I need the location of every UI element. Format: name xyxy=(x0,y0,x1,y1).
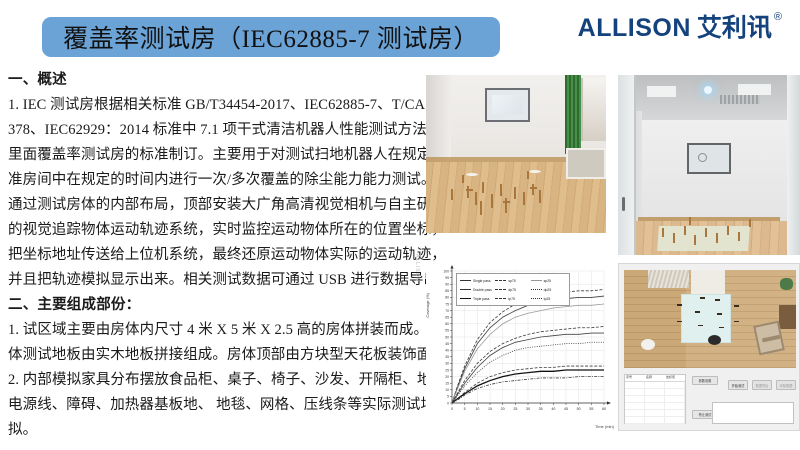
section-2-line: 体测试地板由实木地板拼接组成。房体顶部由方块型天花板装饰面成。 xyxy=(8,343,420,368)
chart-canvas: Coverage (%) Time (min) 0510152025303540… xyxy=(426,263,616,431)
software-log-area[interactable] xyxy=(712,402,794,424)
camera-marker xyxy=(734,305,739,307)
photo-peg xyxy=(532,184,534,195)
legend-row: Double pass dp75 dp25 xyxy=(460,285,566,294)
svg-text:45: 45 xyxy=(564,407,568,411)
registered-trademark-icon: ® xyxy=(774,11,782,23)
section-2-line: 1. 试区域主要由房体内尺寸 4 米 X 5 米 X 2.5 高的房体拼装而成。 xyxy=(8,318,420,343)
svg-text:55: 55 xyxy=(445,329,449,333)
title-banner: 覆盖率测试房（IEC62885-7 测试房） xyxy=(42,17,500,57)
table-row[interactable] xyxy=(625,389,685,396)
table-header-cell: 序号 xyxy=(625,375,645,381)
legend-item: sp25 xyxy=(531,279,566,283)
svg-text:50: 50 xyxy=(445,335,449,339)
svg-text:20: 20 xyxy=(445,375,449,379)
photo-wall-frame xyxy=(687,143,731,174)
legend-label: dp75 xyxy=(508,288,516,292)
page-title: 覆盖率测试房（IEC62885-7 测试房） xyxy=(63,19,479,55)
svg-text:30: 30 xyxy=(445,362,449,366)
photo-peg xyxy=(689,217,691,225)
legend-swatch-icon xyxy=(531,298,542,299)
table-header-cell: 坐标值 xyxy=(665,375,685,381)
table-row[interactable] xyxy=(625,403,685,410)
photo-peg xyxy=(451,189,453,200)
svg-text:0: 0 xyxy=(447,401,449,405)
camera-plant xyxy=(780,278,793,290)
photo-ceiling-light xyxy=(738,84,771,95)
svg-text:35: 35 xyxy=(539,407,543,411)
legend-swatch-icon xyxy=(531,280,542,281)
camera-ceiling-strip xyxy=(648,270,689,288)
camera-marker xyxy=(717,313,722,315)
legend-item: Single pass xyxy=(460,279,495,283)
legend-label: Double pass xyxy=(473,288,492,292)
legend-label: dp25 xyxy=(544,288,552,292)
svg-text:5: 5 xyxy=(464,407,466,411)
logo-text-cn: 艾利讯 xyxy=(697,16,772,41)
section-2-heading: 二、主要组成部份： xyxy=(8,293,420,318)
photo-peg xyxy=(727,226,729,235)
photo-peg xyxy=(500,184,502,196)
photo-peg xyxy=(662,228,664,237)
legend-label: sp75 xyxy=(508,279,515,283)
clear-data-button[interactable]: 清除数据 xyxy=(776,380,796,390)
section-1-line: 准房间中在规定的时间内进行一次/多次覆盖的除尘能力能力测试。 xyxy=(8,168,420,193)
watermark-text: ALLISON xyxy=(414,254,420,282)
photo-stand xyxy=(466,173,478,176)
legend-label: tp25 xyxy=(544,297,551,301)
slide-root: 覆盖率测试房（IEC62885-7 测试房） ALLISON 艾利讯 ® 一、概… xyxy=(0,0,800,450)
photo-peg xyxy=(480,201,482,215)
photo-peg xyxy=(514,187,516,199)
camera-marker xyxy=(677,321,682,323)
photo-peg-cross xyxy=(530,187,537,189)
svg-text:80: 80 xyxy=(445,296,449,300)
svg-text:40: 40 xyxy=(551,407,555,411)
svg-text:50: 50 xyxy=(577,407,581,411)
photo-peg xyxy=(705,228,707,237)
svg-text:25: 25 xyxy=(513,407,517,411)
photo-peg xyxy=(684,226,686,235)
photo-peg xyxy=(694,235,696,245)
photo-software: 序号 名称 坐标值 参数设置 停止测试 开始测试 数据导出 清除数据 退出 xyxy=(618,263,800,431)
camera-marker xyxy=(715,299,720,301)
photo-peg xyxy=(716,233,718,243)
svg-text:40: 40 xyxy=(445,349,449,353)
photo-peg xyxy=(475,192,477,205)
section-1-line: 通过测试房体的内部布局，顶部安装大广角高清视觉相机与自主研发 xyxy=(8,193,420,218)
photo-stand xyxy=(529,170,541,173)
svg-text:0: 0 xyxy=(451,407,453,411)
software-control-panel: 序号 名称 坐标值 参数设置 停止测试 开始测试 数据导出 清除数据 退出 xyxy=(624,372,796,426)
photo-test-carpet xyxy=(657,226,750,251)
svg-text:30: 30 xyxy=(526,407,530,411)
legend-item: Triple pass xyxy=(460,297,495,301)
table-row[interactable] xyxy=(625,396,685,403)
legend-row: Triple pass tp75 tp25 xyxy=(460,294,566,303)
photo-peg xyxy=(738,232,740,241)
legend-item: sp75 xyxy=(495,279,530,283)
photo-room-pegs xyxy=(426,75,606,233)
photo-peg xyxy=(673,233,675,243)
section-1-line: 并且把轨迹模拟显示出来。相关测试数据可通过 USB 进行数据导出。 xyxy=(8,268,420,293)
photo-door-right xyxy=(787,75,800,255)
body-text-column: 一、概述 1. IEC 测试房根据相关标准 GB/T34454-2017、IEC… xyxy=(8,68,420,438)
legend-label: sp25 xyxy=(544,279,551,283)
photo-door-handle xyxy=(622,197,625,211)
photo-peg xyxy=(539,190,541,203)
photo-peg xyxy=(462,175,464,183)
svg-text:70: 70 xyxy=(445,309,449,313)
legend-swatch-icon xyxy=(495,289,506,290)
camera-marker xyxy=(677,304,682,306)
photo-peg-cross xyxy=(503,201,510,203)
svg-text:20: 20 xyxy=(501,407,505,411)
legend-item: tp75 xyxy=(495,297,530,301)
legend-swatch-icon xyxy=(495,280,506,281)
svg-text:15: 15 xyxy=(488,407,492,411)
table-header-cell: 名称 xyxy=(645,375,665,381)
chart-y-axis-label: Coverage (%) xyxy=(425,293,430,318)
section-1-line: 378、IEC62929：2014 标准中 7.1 项干式清洁机器人性能测试方法 xyxy=(8,118,420,143)
photo-air-vent xyxy=(720,95,760,104)
legend-item: tp25 xyxy=(531,297,566,301)
section-1-line: 里面覆盖率测试房的标准制订。主要用于对测试扫地机器人在规定标 xyxy=(8,143,420,168)
section-2-line: 电源线、障碍、加热器基板地、 地毯、网格、压线条等实际测试场地 xyxy=(8,393,420,418)
photo-peg xyxy=(527,171,529,179)
photo-peg xyxy=(467,186,469,198)
legend-swatch-icon xyxy=(460,298,471,299)
table-row[interactable] xyxy=(625,410,685,417)
svg-text:10: 10 xyxy=(445,388,449,392)
brand-logo: ALLISON 艾利讯 ® xyxy=(578,16,782,41)
photo-peg-cross xyxy=(466,189,473,191)
photo-wall-left xyxy=(426,75,451,163)
photo-peg xyxy=(491,194,493,208)
svg-text:5: 5 xyxy=(447,395,449,399)
svg-text:45: 45 xyxy=(445,342,449,346)
chart-x-axis-label: Time (min) xyxy=(595,424,614,429)
svg-text:10: 10 xyxy=(475,407,479,411)
photo-peg xyxy=(482,182,484,193)
camera-table xyxy=(779,305,796,329)
table-header-row: 序号 名称 坐标值 xyxy=(625,375,685,382)
svg-text:85: 85 xyxy=(445,289,449,293)
chart-coverage-vs-time: Coverage (%) Time (min) 0510152025303540… xyxy=(426,263,616,431)
table-row[interactable] xyxy=(625,417,685,424)
legend-label: Single pass xyxy=(473,279,491,283)
svg-text:100: 100 xyxy=(443,269,449,273)
legend-swatch-icon xyxy=(531,289,542,290)
section-2-line: 拟。 xyxy=(8,418,420,443)
photo-ceiling xyxy=(618,75,800,122)
camera-marker xyxy=(695,311,700,313)
svg-text:15: 15 xyxy=(445,382,449,386)
photo-ceiling-light xyxy=(647,86,676,97)
camera-marker xyxy=(700,297,705,299)
camera-marker xyxy=(734,321,739,323)
section-2-line: 2. 内部模拟家具分布摆放食品柜、桌子、椅子、沙发、开隔柜、地灯、 xyxy=(8,368,420,393)
svg-text:60: 60 xyxy=(602,407,606,411)
camera-robot-vacuum xyxy=(708,335,721,345)
export-data-button[interactable]: 数据导出 xyxy=(752,380,772,390)
table-row[interactable] xyxy=(625,382,685,389)
svg-text:95: 95 xyxy=(445,276,449,280)
settings-button[interactable]: 参数设置 xyxy=(692,376,718,385)
section-1-line: 1. IEC 测试房根据相关标准 GB/T34454-2017、IEC62885… xyxy=(8,93,420,118)
legend-item: dp25 xyxy=(531,288,566,292)
photo-peg xyxy=(523,192,525,205)
photo-peg xyxy=(749,219,751,227)
section-1-heading: 一、概述 xyxy=(8,68,420,93)
camera-marker xyxy=(719,327,724,329)
svg-text:75: 75 xyxy=(445,302,449,306)
camera-test-mat xyxy=(681,294,731,343)
software-camera-view xyxy=(624,270,796,368)
photo-pendant-lamp xyxy=(704,86,712,94)
photo-room-wide xyxy=(618,75,800,255)
photo-curtain xyxy=(565,75,581,154)
legend-item: dp75 xyxy=(495,288,530,292)
start-test-button[interactable]: 开始测试 xyxy=(728,380,748,390)
svg-text:60: 60 xyxy=(445,322,449,326)
photo-door-left xyxy=(618,75,636,255)
software-data-table: 序号 名称 坐标值 xyxy=(624,374,686,424)
logo-text-en: ALLISON xyxy=(578,16,691,41)
camera-white-panel xyxy=(691,270,725,294)
svg-text:35: 35 xyxy=(445,355,449,359)
legend-label: tp75 xyxy=(508,297,515,301)
section-1-line: 的视觉追踪物体运动轨迹系统，实时监控运动物体所在的位置坐标， xyxy=(8,218,420,243)
legend-row: Single pass sp75 sp25 xyxy=(460,276,566,285)
legend-swatch-icon xyxy=(495,298,506,299)
camera-floor-lamp xyxy=(641,339,655,350)
legend-item: Double pass xyxy=(460,288,495,292)
chart-legend: Single pass sp75 sp25 Double pass dp75 d… xyxy=(456,273,570,306)
photo-wall-frame xyxy=(485,88,530,123)
legend-swatch-icon xyxy=(460,289,471,290)
camera-marker xyxy=(698,325,703,327)
svg-text:55: 55 xyxy=(589,407,593,411)
svg-text:90: 90 xyxy=(445,283,449,287)
legend-label: Triple pass xyxy=(473,297,489,301)
photo-window xyxy=(581,78,606,141)
section-1-line: 把坐标地址传送给上位机系统，最终还原运动物体实际的运动轨迹， xyxy=(8,243,420,268)
svg-text:65: 65 xyxy=(445,316,449,320)
legend-swatch-icon xyxy=(460,280,471,281)
svg-text:25: 25 xyxy=(445,368,449,372)
photo-step-box xyxy=(566,148,606,180)
